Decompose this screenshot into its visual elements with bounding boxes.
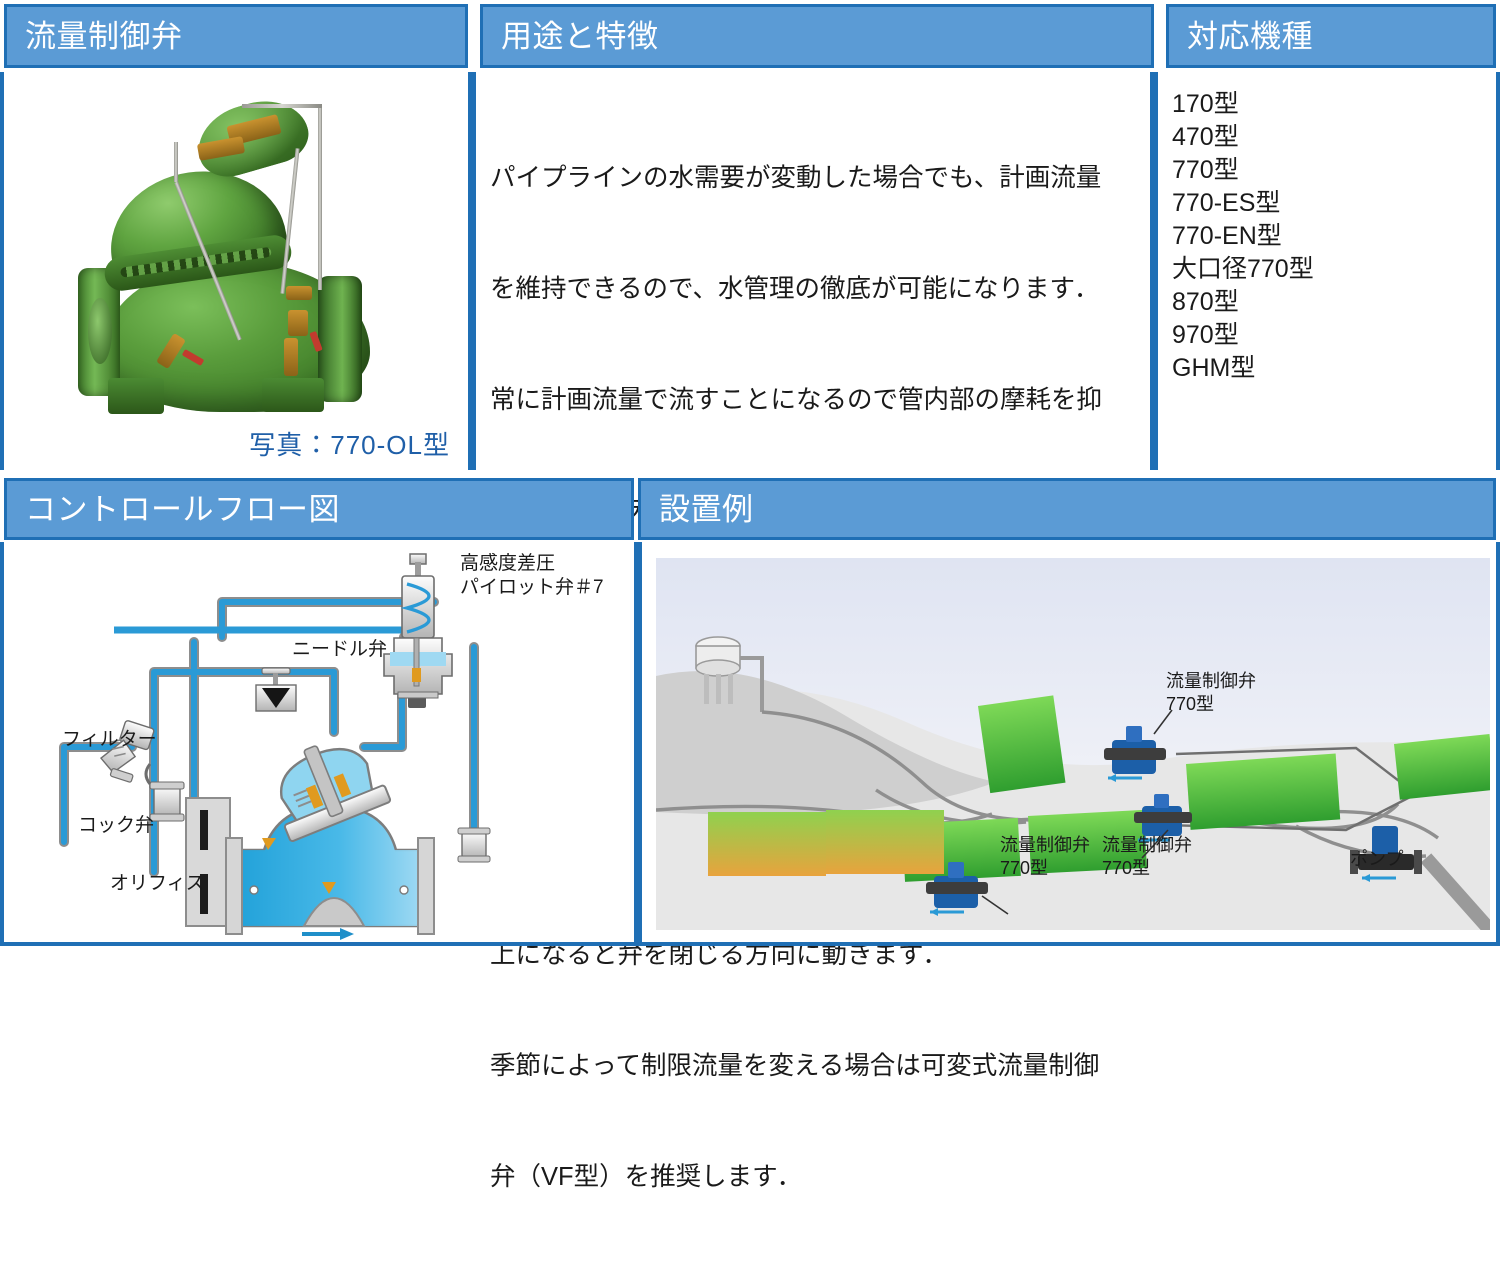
header-installation: 設置例 <box>638 478 1496 540</box>
map-label-valve-upper-line2: 770型 <box>1166 693 1256 716</box>
control-tube-5 <box>174 142 178 182</box>
model-item: 770-EN型 <box>1172 220 1496 253</box>
header-valve: 流量制御弁 <box>4 4 468 68</box>
model-item: 770-ES型 <box>1172 187 1496 220</box>
map-label-valve-lower-right-line1: 流量制御弁 <box>1102 834 1192 857</box>
model-list: 170型 470型 770型 770-ES型 770-EN型 大口径770型 8… <box>1158 72 1496 385</box>
model-item: 大口径770型 <box>1172 253 1496 286</box>
header-installation-label: 設置例 <box>641 494 754 525</box>
valve-flange-right <box>318 276 362 402</box>
cell-models: 170型 470型 770型 770-ES型 770-EN型 大口径770型 8… <box>1154 72 1500 470</box>
model-item: 770型 <box>1172 154 1496 187</box>
spec-sheet: 流量制御弁 用途と特徴 対応機種 <box>0 0 1500 950</box>
label-orifice: オリフィス <box>110 872 205 896</box>
flow-arrow-icon <box>302 928 354 940</box>
control-tube-1 <box>318 106 322 290</box>
valve-base-left <box>108 378 164 414</box>
brass-fitting-5 <box>284 338 298 376</box>
cell-use-features: パイプラインの水需要が変動した場合でも、計画流量 を維持できるので、水管理の徹底… <box>472 72 1154 470</box>
description-line: を維持できるので、水管理の徹底が可能になります． <box>490 271 1140 308</box>
installation-diagram: 流量制御弁 770型 流量制御弁 770型 流量制御弁 770型 ポンプ <box>656 558 1490 930</box>
description-line: パイプラインの水需要が変動した場合でも、計画流量 <box>490 160 1140 197</box>
valve-base-right <box>262 378 324 412</box>
label-needle-valve: ニードル弁 <box>292 638 387 662</box>
map-label-valve-lower-left-line1: 流量制御弁 <box>1000 834 1090 857</box>
union-fitting-right <box>458 828 490 862</box>
control-tube-2 <box>242 104 322 108</box>
brass-fitting-4 <box>288 310 308 336</box>
header-valve-label: 流量制御弁 <box>7 21 183 52</box>
brass-fitting-3 <box>286 286 312 300</box>
control-flow-diagram: 高感度差圧 パイロット弁＃7 ニードル弁 フィルター コック弁 オリフィス <box>4 542 642 946</box>
map-label-valve-lower-left: 流量制御弁 770型 <box>1000 834 1090 880</box>
model-item: 170型 <box>1172 88 1496 121</box>
label-filter: フィルター <box>62 728 157 752</box>
model-item: GHM型 <box>1172 352 1496 385</box>
model-item: 870型 <box>1172 286 1496 319</box>
header-models: 対応機種 <box>1166 4 1496 68</box>
description-line: 常に計画流量で流すことになるので管内部の摩耗を抑 <box>490 382 1140 419</box>
map-label-valve-lower-right: 流量制御弁 770型 <box>1102 834 1192 880</box>
label-high-sensitivity-pilot-line2: パイロット弁＃7 <box>460 576 604 600</box>
orifice <box>186 798 230 926</box>
label-high-sensitivity-pilot: 高感度差圧 パイロット弁＃7 <box>460 552 604 600</box>
cell-valve-photo: 写真：770-OL型 <box>0 72 472 470</box>
cell-installation-diagram: 流量制御弁 770型 流量制御弁 770型 流量制御弁 770型 ポンプ <box>638 542 1500 946</box>
header-control-flow-label: コントロールフロー図 <box>7 494 340 525</box>
valve-photo: 写真：770-OL型 <box>4 72 468 470</box>
description-line: 季節によって制限流量を変える場合は可変式流量制御 <box>490 1048 1140 1085</box>
cell-control-flow-diagram: 高感度差圧 パイロット弁＃7 ニードル弁 フィルター コック弁 オリフィス <box>0 542 638 946</box>
model-item: 470型 <box>1172 121 1496 154</box>
header-use-features: 用途と特徴 <box>480 4 1154 68</box>
description-line: 弁（VF型）を推奨します． <box>490 1159 1140 1196</box>
label-high-sensitivity-pilot-line1: 高感度差圧 <box>460 552 604 576</box>
valve-photo-graphic <box>56 86 426 458</box>
map-label-valve-lower-left-line2: 770型 <box>1000 857 1090 880</box>
header-models-label: 対応機種 <box>1169 21 1313 52</box>
header-control-flow: コントロールフロー図 <box>4 478 634 540</box>
map-label-valve-lower-right-line2: 770型 <box>1102 857 1192 880</box>
map-label-valve-upper: 流量制御弁 770型 <box>1166 670 1256 716</box>
model-item: 970型 <box>1172 319 1496 352</box>
map-label-pump: ポンプ <box>1350 848 1403 871</box>
photo-caption: 写真：770-OL型 <box>249 425 450 462</box>
header-use-features-label: 用途と特徴 <box>483 21 659 52</box>
map-label-valve-upper-line1: 流量制御弁 <box>1166 670 1256 693</box>
label-cock-valve: コック弁 <box>78 814 154 838</box>
main-valve-body <box>226 727 434 940</box>
